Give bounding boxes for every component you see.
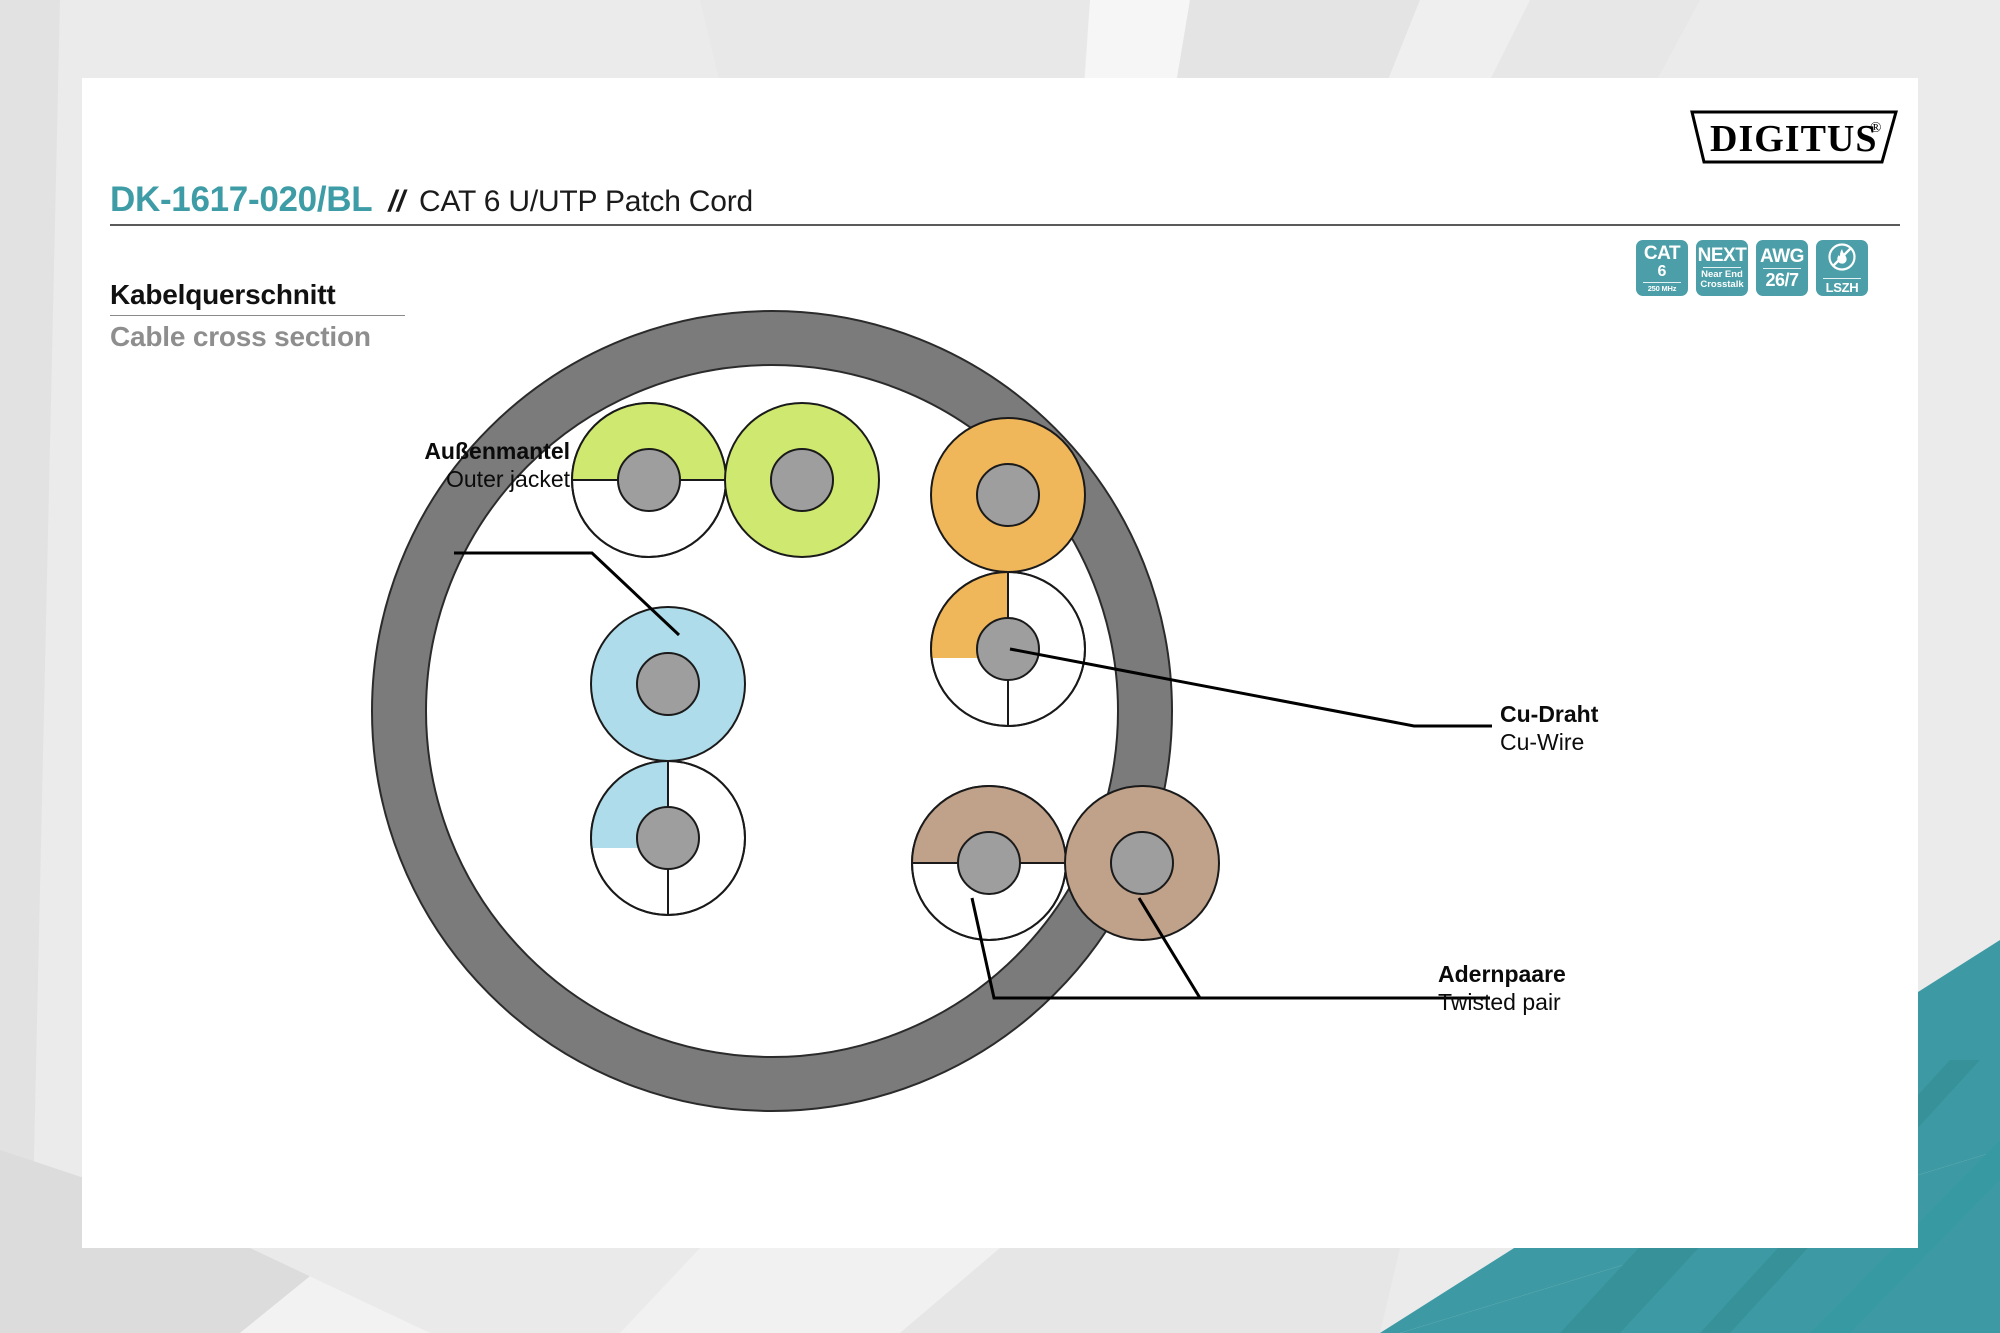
callout-cu-wire-de: Cu-Draht <box>1500 700 1598 728</box>
cu-core <box>977 618 1039 680</box>
orange-pair <box>931 418 1085 726</box>
green-pair <box>572 403 879 557</box>
cu-core <box>618 449 680 511</box>
callout-outer-jacket: Außenmantel Outer jacket <box>170 437 570 493</box>
callout-cu-wire: Cu-Draht Cu-Wire <box>1500 700 1598 756</box>
green-wire-striped <box>572 403 726 557</box>
callout-cu-wire-en: Cu-Wire <box>1500 728 1598 756</box>
brown-wire-solid <box>1065 786 1219 940</box>
callout-twisted-pair-de: Adernpaare <box>1438 960 1566 988</box>
callout-outer-jacket-en: Outer jacket <box>170 465 570 493</box>
orange-wire-solid <box>931 418 1085 572</box>
cu-core <box>771 449 833 511</box>
callout-twisted-pair-en: Twisted pair <box>1438 988 1566 1016</box>
cu-core <box>637 653 699 715</box>
blue-wire-striped <box>591 761 745 915</box>
green-wire-solid <box>725 403 879 557</box>
cable-cross-section-diagram <box>82 78 1918 1248</box>
callout-twisted-pair: Adernpaare Twisted pair <box>1438 960 1566 1016</box>
orange-wire-striped <box>931 572 1085 726</box>
cu-core <box>637 807 699 869</box>
blue-wire-solid <box>591 607 745 761</box>
cu-core <box>977 464 1039 526</box>
blue-pair <box>591 607 745 915</box>
callout-outer-jacket-de: Außenmantel <box>170 437 570 465</box>
cu-core <box>958 832 1020 894</box>
cu-core <box>1111 832 1173 894</box>
brown-wire-striped <box>912 786 1066 940</box>
